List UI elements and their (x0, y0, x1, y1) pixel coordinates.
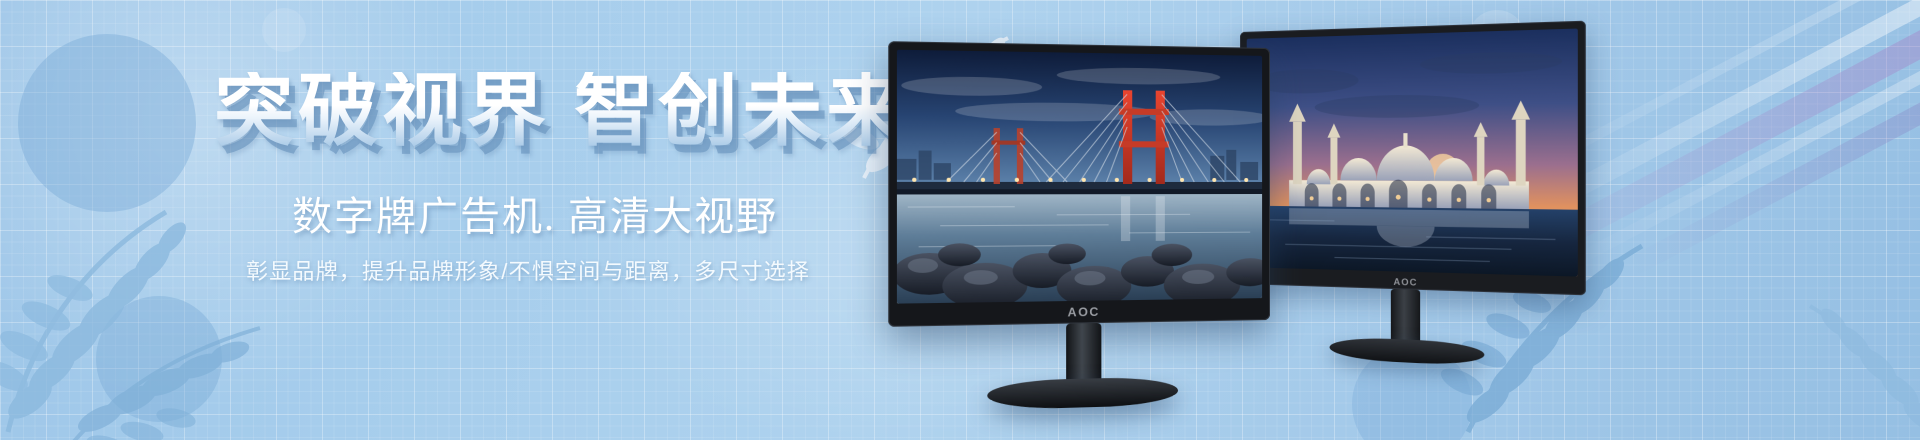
promo-banner: 突破视界 智创未来 数字牌广告机. 高清大视野 彰显品牌，提升品牌形象/不惧空间… (0, 0, 1920, 440)
monitor-front-screen (897, 50, 1262, 304)
monitor-front: AOC (888, 41, 1270, 327)
banner-tagline: 彰显品牌，提升品牌形象/不惧空间与距离，多尺寸选择 (246, 258, 810, 287)
monitor-rear: AOC (1240, 21, 1586, 296)
text-block: 突破视界 智创未来 数字牌广告机. 高清大视野 彰显品牌，提升品牌形象/不惧空间… (0, 0, 900, 440)
monitor-front-brand: AOC (888, 302, 1270, 323)
banner-subtitle: 数字牌广告机. 高清大视野 (292, 192, 778, 242)
monitor-front-stand-base (987, 376, 1178, 410)
monitor-rear-stand-base (1330, 336, 1485, 366)
monitor-rear-screen (1247, 29, 1578, 277)
banner-headline: 突破视界 智创未来 (214, 72, 910, 152)
monitor-rear-bezel: AOC (1240, 21, 1586, 296)
product-imagery: AOC (880, 0, 1920, 440)
monitor-front-bezel: AOC (888, 41, 1270, 327)
